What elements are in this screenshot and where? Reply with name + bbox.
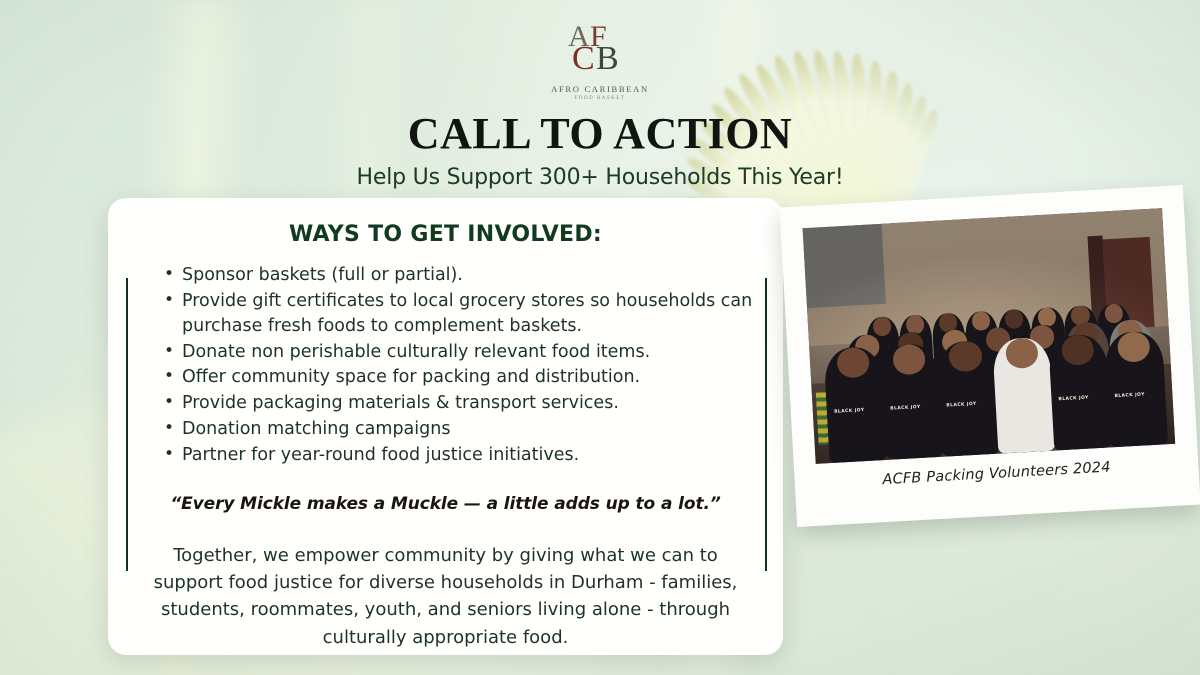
- monogram-letter-b: B: [596, 42, 619, 76]
- volunteers-photo: BLACK JOYBLACK JOYBLACK JOYBLACK JOYBLAC…: [803, 208, 1176, 464]
- ways-list: Sponsor baskets (full or partial).Provid…: [164, 263, 761, 468]
- photo-polaroid: BLACK JOYBLACK JOYBLACK JOYBLACK JOYBLAC…: [779, 185, 1200, 527]
- closing-paragraph: Together, we empower community by giving…: [130, 542, 761, 651]
- ways-list-item: Provide gift certificates to local groce…: [164, 289, 761, 339]
- ways-to-get-involved-card: WAYS TO GET INVOLVED: Sponsor baskets (f…: [108, 198, 783, 655]
- headline-block: CALL TO ACTION Help Us Support 300+ Hous…: [0, 108, 1200, 190]
- proverb-quote: “Every Mickle makes a Muckle — a little …: [130, 494, 761, 514]
- divider-right: [765, 278, 767, 571]
- page-title: CALL TO ACTION: [0, 108, 1200, 159]
- ways-list-item: Donation matching campaigns: [164, 417, 761, 442]
- ways-list-item: Sponsor baskets (full or partial).: [164, 263, 761, 288]
- card-heading: WAYS TO GET INVOLVED:: [130, 222, 761, 247]
- divider-left: [126, 278, 128, 571]
- ways-list-item: Offer community space for packing and di…: [164, 365, 761, 390]
- page-subtitle: Help Us Support 300+ Households This Yea…: [0, 165, 1200, 190]
- acfb-monogram-icon: A F C B: [560, 20, 640, 80]
- monogram-letter-c: C: [572, 42, 595, 76]
- photo-caption: ACFB Packing Volunteers 2024: [816, 456, 1176, 492]
- logo-name: AFRO CARIBBEAN: [0, 84, 1200, 94]
- logo-subtitle: FOOD BASKET: [0, 96, 1200, 101]
- ways-list-item: Partner for year-round food justice init…: [164, 443, 761, 468]
- ways-list-item: Donate non perishable culturally relevan…: [164, 340, 761, 365]
- acfb-logo: A F C B AFRO CARIBBEAN FOOD BASKET: [0, 20, 1200, 101]
- ways-list-item: Provide packaging materials & transport …: [164, 391, 761, 416]
